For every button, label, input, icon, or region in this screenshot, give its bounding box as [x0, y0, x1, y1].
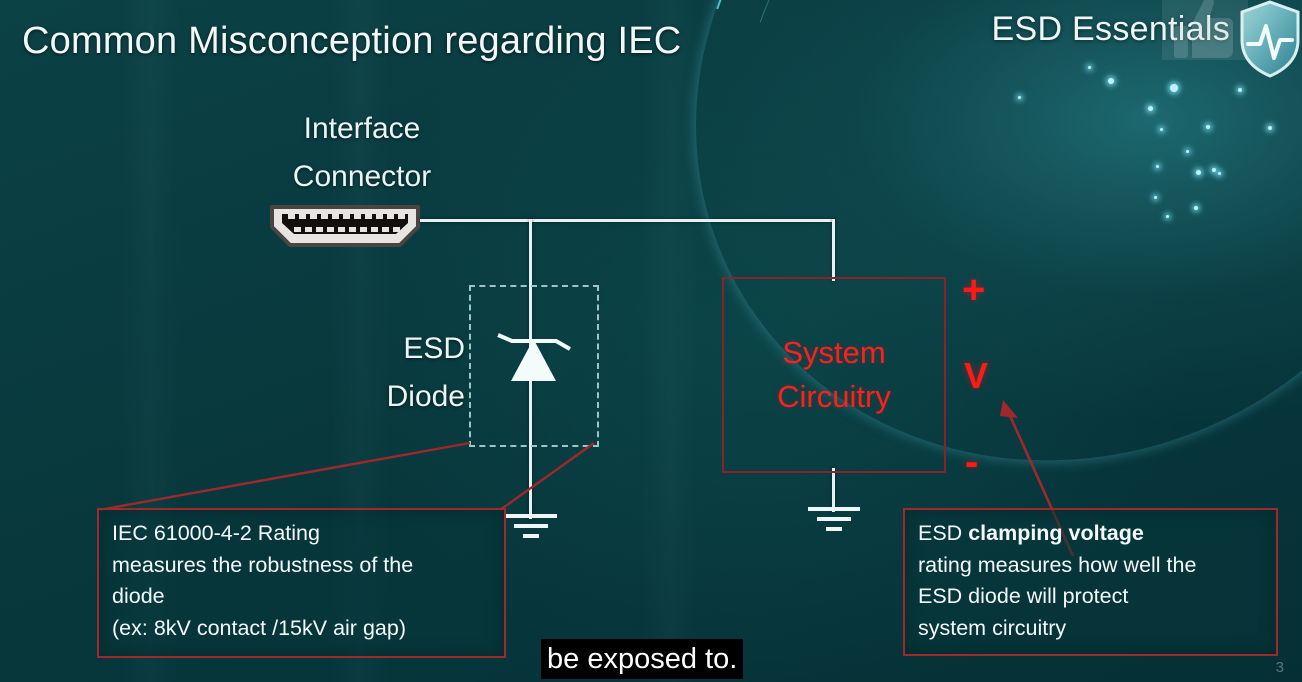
left-callout-line1: IEC 61000-4-2 Rating [112, 518, 491, 550]
hdmi-connector-icon [266, 203, 424, 249]
page-number: 3 [1276, 659, 1284, 676]
right-callout-line1-bold: clamping voltage [968, 521, 1144, 545]
glow-dot [1170, 84, 1178, 92]
interface-connector-label: Interface Connector [262, 105, 462, 201]
shield-heartbeat-icon [1238, 0, 1302, 78]
ground-symbol-icon [806, 505, 862, 535]
background-streak [640, 0, 700, 682]
right-callout-line1: ESD clamping voltage [918, 518, 1263, 550]
glow-dot [1148, 106, 1153, 111]
right-callout-line4: system circuitry [918, 613, 1263, 645]
right-callout-line1-prefix: ESD [918, 521, 968, 545]
tvs-zener-diode-icon [486, 315, 581, 400]
glow-dot [1196, 170, 1201, 175]
polarity-voltage-label: V [964, 355, 988, 397]
esd-label-line2: Diode [330, 373, 465, 421]
polarity-minus-label: - [965, 440, 978, 485]
glow-dot [1194, 206, 1198, 210]
left-callout-line3: diode [112, 581, 491, 613]
right-callout-line3: ESD diode will protect [918, 581, 1263, 613]
right-callout-text: ESD clamping voltage rating measures how… [905, 510, 1276, 644]
left-callout-box: IEC 61000-4-2 Rating measures the robust… [97, 508, 506, 658]
left-callout-line4: (ex: 8kV contact /15kV air gap) [112, 613, 491, 645]
interface-label-line2: Connector [262, 153, 462, 201]
right-callout-box: ESD clamping voltage rating measures how… [903, 508, 1278, 656]
glow-dot [1156, 165, 1159, 168]
video-caption: be exposed to. [541, 639, 743, 679]
polarity-plus-label: + [962, 268, 985, 313]
right-callout-line2: rating measures how well the [918, 550, 1263, 582]
glow-dot [1018, 96, 1021, 99]
glow-dot [1206, 125, 1210, 129]
glow-dot [1218, 172, 1221, 175]
page-title: Common Misconception regarding IEC [22, 20, 681, 63]
glow-dot [1154, 196, 1157, 199]
glow-dot [1238, 88, 1242, 92]
wire-horizontal-main [420, 219, 835, 222]
thumbs-up-icon [1162, 0, 1248, 60]
system-circuitry-box: System Circuitry [722, 277, 946, 473]
system-circuitry-label: System Circuitry [777, 331, 891, 419]
glow-dot [1186, 150, 1189, 153]
wire-vertical-system [832, 219, 835, 281]
glow-dot [1088, 66, 1091, 69]
interface-label-line1: Interface [262, 105, 462, 153]
left-callout-text: IEC 61000-4-2 Rating measures the robust… [99, 510, 504, 644]
slide-canvas: Common Misconception regarding IEC ESD E… [0, 0, 1302, 682]
glow-dot [1160, 128, 1163, 131]
esd-label-line1: ESD [330, 325, 465, 373]
ground-symbol-icon [503, 512, 559, 542]
system-label-line1: System [777, 331, 891, 375]
glow-dot [1108, 78, 1114, 84]
glow-dot [1212, 168, 1216, 172]
left-callout-line2: measures the robustness of the [112, 550, 491, 582]
glow-dot [1166, 215, 1169, 218]
esd-diode-label: ESD Diode [330, 325, 465, 421]
glow-dot [1268, 126, 1272, 130]
system-label-line2: Circuitry [777, 375, 891, 419]
